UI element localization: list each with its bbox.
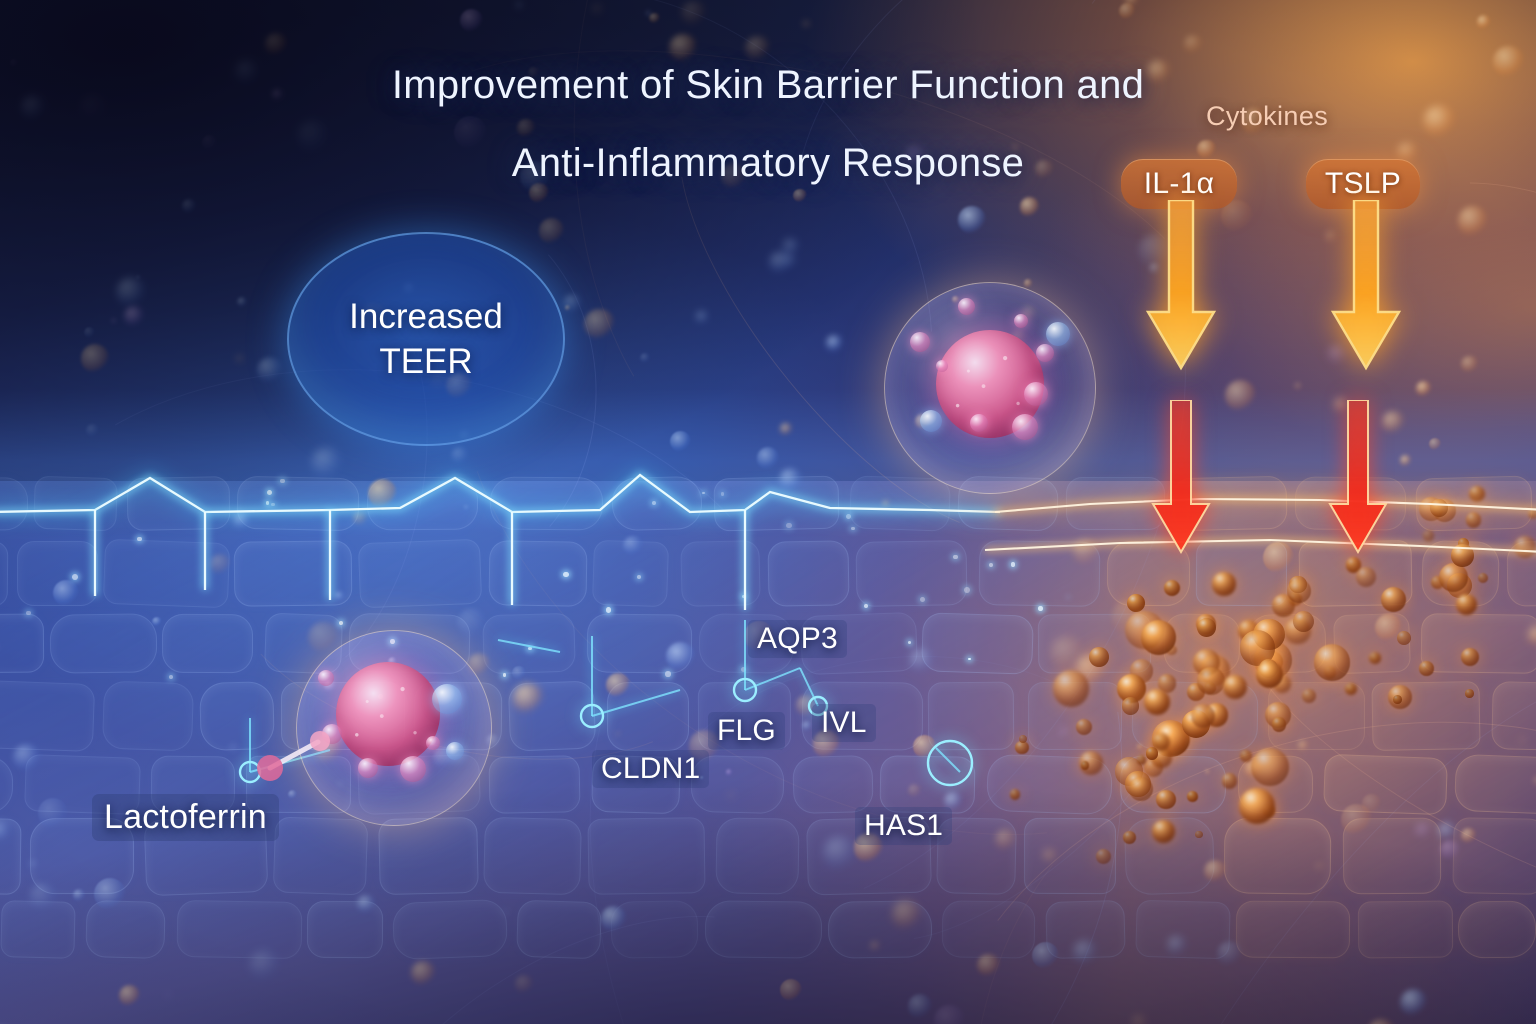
- cytokines-heading: Cytokines: [1206, 101, 1328, 132]
- vesicle: [358, 758, 378, 778]
- gene-label-has1: HAS1: [855, 807, 952, 845]
- vesicle: [936, 360, 948, 372]
- keratinocyte-cell-lower: [296, 630, 492, 826]
- vesicle: [446, 742, 464, 760]
- vignette-overlay: [0, 0, 1536, 1024]
- lactoferrin-label: Lactoferrin: [92, 794, 279, 841]
- teer-label-line-2: TEER: [379, 339, 472, 385]
- vesicle: [970, 414, 988, 432]
- cytokine-decrease-arrow-large-il1a: [1142, 200, 1220, 390]
- illustration-canvas: Improvement of Skin Barrier Function and…: [0, 0, 1536, 1024]
- increased-teer-badge: Increased TEER: [287, 232, 565, 446]
- cytokine-decrease-arrow-large-tslp: [1327, 200, 1405, 390]
- vesicle: [432, 684, 462, 714]
- gene-label-flg: FLG: [708, 712, 785, 750]
- vesicle: [1046, 322, 1070, 346]
- gene-label-cldn1: CLDN1: [592, 750, 709, 788]
- teer-label-line-1: Increased: [349, 294, 503, 340]
- gene-label-aqp3: AQP3: [748, 620, 847, 658]
- gene-label-ivl: IVL: [812, 704, 876, 742]
- vesicle: [910, 332, 930, 352]
- keratinocyte-cell-upper: [884, 282, 1096, 494]
- cytokine-badge-tslp-label: TSLP: [1325, 167, 1401, 201]
- vesicle: [1012, 414, 1038, 440]
- vesicle: [920, 410, 942, 432]
- cytokine-badge-il1a-label: IL-1α: [1144, 167, 1215, 201]
- vesicle: [426, 736, 440, 750]
- vesicle: [400, 756, 426, 782]
- vesicle: [1024, 382, 1048, 406]
- vesicle: [1036, 344, 1054, 362]
- vesicle: [958, 298, 975, 315]
- cytokine-decrease-arrow-small-il1a: [1148, 400, 1214, 570]
- lactoferrin-molecule-icon: [262, 728, 352, 788]
- vesicle: [318, 670, 334, 686]
- cytokine-decrease-arrow-small-tslp: [1325, 400, 1391, 570]
- vesicle: [1014, 314, 1028, 328]
